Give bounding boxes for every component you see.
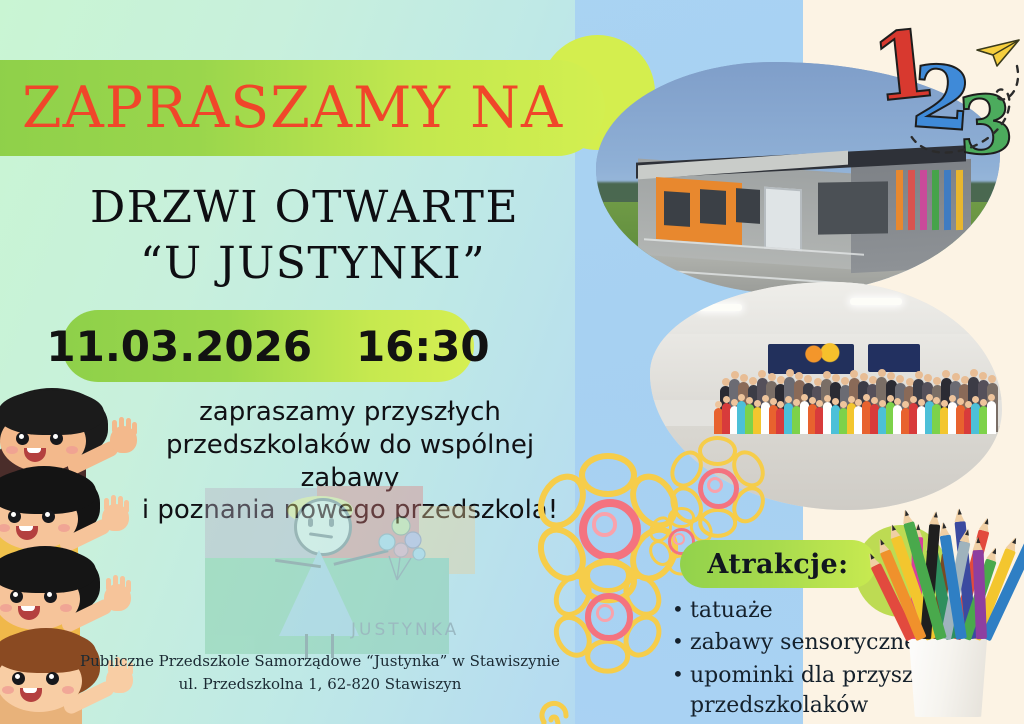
- flower-center-inner: [592, 512, 616, 536]
- pencil-lead: [933, 511, 937, 517]
- dashed-trail-icon: [905, 60, 1021, 166]
- child-eye-left: [10, 590, 23, 603]
- photo-person-head: [723, 396, 730, 403]
- flower-center: [579, 499, 641, 561]
- bullet-icon: •: [672, 628, 690, 656]
- child-fringe: [0, 468, 96, 514]
- child-hand: [102, 504, 129, 531]
- child-hand: [104, 584, 131, 611]
- attractions-list-item-label: tatuaże: [690, 596, 773, 626]
- watermark-girl-eye: [329, 518, 334, 527]
- photo-person-head: [801, 394, 808, 401]
- photo-person-head: [879, 400, 886, 407]
- pencil-lead: [957, 508, 962, 514]
- photo-ceiling-lamp: [850, 298, 902, 305]
- photo-person-head: [731, 371, 739, 379]
- photo-person-head: [957, 398, 964, 405]
- photo-person-head: [770, 398, 777, 405]
- subtitle-line-2: “U JUSTYNKI”: [140, 238, 486, 289]
- photo-color-stripe: [956, 170, 963, 230]
- watermark-flower-bouquet: [367, 510, 441, 584]
- photo-window: [664, 191, 690, 227]
- watermark-girl-eye: [308, 518, 313, 527]
- flower-center: [585, 593, 632, 640]
- photo-person-head: [887, 395, 894, 402]
- photo-person-head: [809, 397, 816, 404]
- photo-person-head: [926, 394, 933, 401]
- date-time-pill: 11.03.2026 16:30: [62, 310, 474, 382]
- photo-wall-flower-decoration: [800, 340, 846, 368]
- headline-banner: ZAPRASZAMY NA: [0, 60, 605, 156]
- child-cheek-right: [66, 446, 78, 454]
- photo-person-head: [823, 371, 831, 379]
- photo-person-head: [910, 396, 917, 403]
- colored-pencils-in-cup: [880, 512, 1020, 717]
- photo-person-head: [918, 399, 925, 406]
- pencil-lead: [941, 522, 946, 529]
- photo-window: [736, 188, 760, 224]
- child-fringe: [0, 390, 104, 435]
- photo-wall-board: [868, 344, 920, 372]
- date-time-text: 11.03.2026 16:30: [46, 322, 489, 371]
- photo-person-head: [860, 373, 868, 381]
- photo-large-window: [818, 181, 888, 234]
- subtitle-line-1: DRZWI OTWARTE: [90, 182, 519, 233]
- photo-person-head: [762, 395, 769, 402]
- photo-person-head: [832, 374, 840, 382]
- doodle-swirl-icon: [524, 690, 584, 724]
- attractions-heading-pill: Atrakcje:: [680, 540, 876, 588]
- flower-petal: [579, 453, 637, 497]
- photo-person-head: [840, 401, 847, 408]
- child-cheek-left: [0, 604, 12, 612]
- pencil-lead: [976, 537, 980, 543]
- child-hand: [110, 426, 137, 453]
- headline-text: ZAPRASZAMY NA: [22, 75, 563, 141]
- attractions-heading-text: Atrakcje:: [707, 549, 848, 580]
- photo-color-stripe: [896, 170, 903, 230]
- flower-center-inner: [707, 477, 724, 494]
- photo-person-head: [871, 397, 878, 404]
- photo-color-stripe: [944, 170, 951, 230]
- child-eye-right: [50, 432, 63, 445]
- photo-person-head: [915, 371, 923, 379]
- watermark-girl-head: [294, 498, 352, 556]
- child-eye-right: [42, 510, 55, 523]
- photo-person-child: [987, 401, 996, 434]
- photo-person-head: [832, 398, 839, 405]
- child-eye-left: [12, 672, 25, 685]
- poster-canvas: 1 2 3 ZAPRASZAMY NA DRZWI OTWARTE “U JUS…: [0, 0, 1024, 724]
- bullet-icon: •: [672, 596, 690, 624]
- child-cheek-left: [6, 446, 18, 454]
- photo-person-head: [988, 394, 995, 401]
- flower-center-inner: [596, 604, 614, 622]
- photo-person-head: [952, 373, 960, 381]
- photo-color-stripe: [908, 170, 915, 230]
- flower-center: [698, 468, 739, 509]
- photo-color-stripe: [932, 170, 939, 230]
- child-cheek-right: [60, 604, 72, 612]
- photo-ceiling-lamp: [698, 304, 742, 311]
- photo-person-head: [754, 400, 761, 407]
- photo-person-head: [786, 369, 794, 377]
- justynka-logo-watermark: JUSTYNKA: [205, 482, 475, 662]
- child-eye-right: [44, 590, 57, 603]
- child-eye-left: [16, 432, 29, 445]
- watermark-logo-text: JUSTYNKA: [351, 620, 459, 640]
- photo-person-head: [715, 401, 722, 408]
- photo-person-head: [848, 396, 855, 403]
- child-cheek-left: [2, 686, 14, 694]
- flower-center-inner: [673, 533, 684, 544]
- bullet-icon: •: [672, 661, 690, 689]
- child-eye-left: [8, 510, 21, 523]
- photo-person-head: [924, 374, 932, 382]
- child-cheek-right: [58, 524, 70, 532]
- photo-window: [700, 189, 726, 225]
- child-fringe: [0, 548, 96, 593]
- footer-address: Publiczne Przedszkole Samorządowe “Justy…: [60, 650, 580, 695]
- photo-person-head: [740, 374, 748, 382]
- photo-color-stripe: [920, 170, 927, 230]
- child-eye-right: [46, 672, 59, 685]
- photo-entrance-door: [764, 187, 802, 252]
- photo-person-head: [949, 395, 956, 402]
- photo-person-head: [768, 373, 776, 381]
- photo-person-head: [793, 399, 800, 406]
- photo-person-head: [878, 369, 886, 377]
- photo-person-head: [970, 369, 978, 377]
